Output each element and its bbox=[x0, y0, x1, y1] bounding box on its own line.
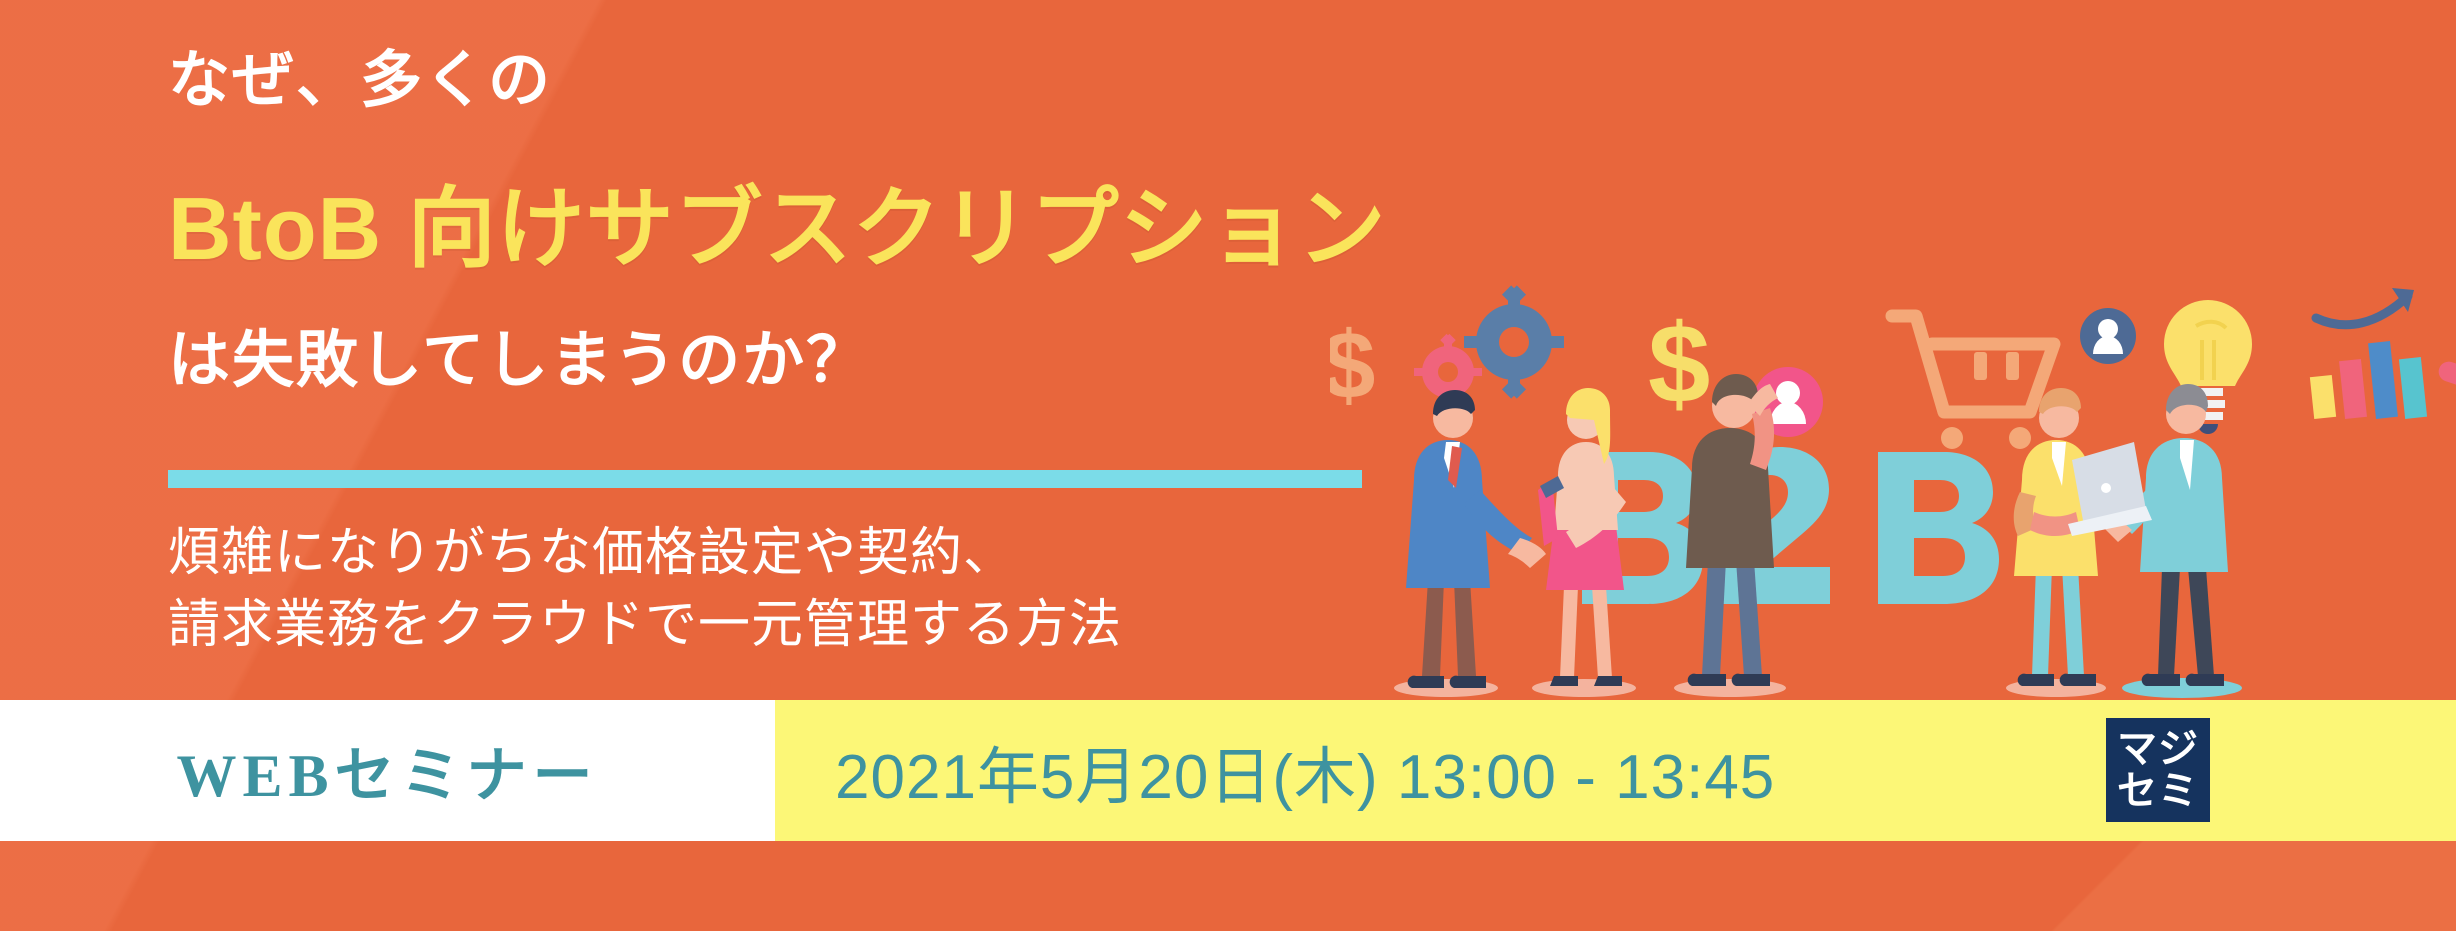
logo-line-2: セミ bbox=[2117, 771, 2199, 811]
dollar-icon: $ bbox=[1648, 301, 1710, 426]
seminar-type-bar: WEBセミナー bbox=[0, 700, 775, 841]
magnifier-icon bbox=[2436, 304, 2456, 396]
businesswoman-handshake bbox=[1532, 388, 1636, 697]
b2b-big-letters bbox=[1582, 447, 1999, 604]
cyan-divider bbox=[168, 470, 1362, 488]
seminar-type-label: WEBセミナー bbox=[176, 727, 598, 814]
seminar-datetime-label: 2021年5月20日(木) 13:00 - 13:45 bbox=[835, 726, 1775, 816]
user-badge-icon bbox=[2080, 308, 2136, 364]
headline-line-2: BtoB 向けサブスクリプション bbox=[168, 185, 1387, 273]
cart-contents bbox=[1974, 352, 2019, 380]
majisemi-logo[interactable]: マジ セミ bbox=[2106, 718, 2210, 822]
businessman-handshake bbox=[1394, 390, 1546, 697]
headline-line-3: は失敗してしまうのか？ bbox=[168, 330, 870, 392]
webinar-banner: なぜ、多くの BtoB 向けサブスクリプション は失敗してしまうのか？ 煩雑にな… bbox=[0, 0, 2456, 931]
svg-text:$: $ bbox=[1330, 312, 1375, 419]
headline-block: なぜ、多くの BtoB 向けサブスクリプション は失敗してしまうのか？ 煩雑にな… bbox=[0, 0, 1400, 700]
svg-text:$: $ bbox=[1648, 301, 1710, 426]
shopping-cart-icon bbox=[1892, 316, 2054, 449]
headline-line-1: なぜ、多くの bbox=[168, 50, 552, 112]
bar-chart-arrow-icon bbox=[2310, 288, 2427, 419]
description-line-2: 請求業務をクラウドで一元管理する方法 bbox=[168, 592, 1122, 659]
dollar-icon: $ bbox=[1330, 312, 1375, 419]
gear-icon bbox=[1464, 285, 1564, 398]
logo-line-1: マジ bbox=[2117, 729, 2199, 769]
description-line-1: 煩雑になりがちな価格設定や契約、 bbox=[168, 520, 1016, 587]
b2b-illustration: $ bbox=[1330, 280, 2456, 700]
